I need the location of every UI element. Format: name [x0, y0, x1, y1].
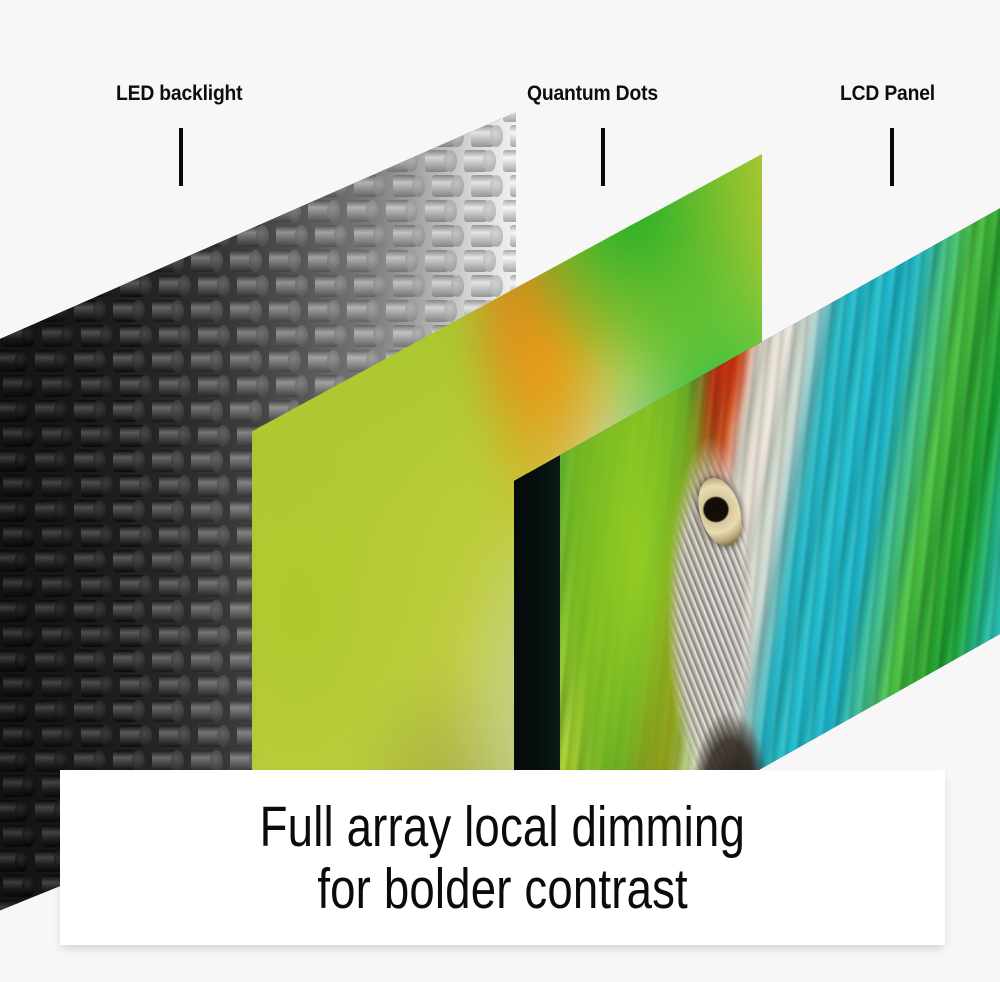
- callout-tick-quantum-dots: [601, 128, 605, 186]
- led-cylinder: [503, 150, 516, 172]
- led-cylinder: [3, 875, 33, 897]
- led-cylinder: [74, 600, 104, 622]
- led-cylinder: [3, 375, 33, 397]
- led-cylinder: [113, 650, 143, 672]
- led-cylinder: [0, 200, 26, 222]
- led-cylinder: [74, 112, 104, 122]
- led-row: [0, 148, 516, 174]
- led-cylinder: [113, 150, 143, 172]
- led-row: [0, 173, 516, 199]
- led-cylinder: [35, 750, 65, 772]
- led-cylinder: [308, 250, 338, 272]
- led-cylinder: [3, 525, 33, 547]
- led-cylinder: [191, 400, 221, 422]
- led-cylinder: [471, 125, 501, 147]
- led-cylinder: [347, 150, 377, 172]
- led-cylinder: [159, 275, 189, 297]
- led-cylinder: [237, 375, 267, 397]
- callout-tick-led-backlight: [179, 128, 183, 186]
- led-row: [0, 223, 516, 249]
- led-cylinder: [35, 550, 65, 572]
- led-cylinder: [42, 125, 72, 147]
- led-cylinder: [152, 750, 182, 772]
- led-cylinder: [152, 150, 182, 172]
- led-cylinder: [120, 125, 150, 147]
- led-cylinder: [152, 200, 182, 222]
- led-cylinder: [42, 425, 72, 447]
- led-cylinder: [386, 200, 416, 222]
- led-cylinder: [81, 675, 111, 697]
- led-cylinder: [510, 125, 516, 147]
- led-cylinder: [393, 175, 423, 197]
- led-cylinder: [230, 250, 260, 272]
- led-cylinder: [198, 125, 228, 147]
- led-cylinder: [81, 175, 111, 197]
- led-cylinder: [230, 200, 260, 222]
- led-cylinder: [191, 150, 221, 172]
- led-cylinder: [3, 725, 33, 747]
- led-cylinder: [81, 625, 111, 647]
- callout-tick-lcd-panel: [890, 128, 894, 186]
- led-cylinder: [74, 350, 104, 372]
- led-cylinder: [120, 225, 150, 247]
- led-cylinder: [464, 150, 494, 172]
- led-cylinder: [74, 150, 104, 172]
- led-cylinder: [471, 225, 501, 247]
- led-cylinder: [269, 300, 299, 322]
- led-cylinder: [152, 700, 182, 722]
- led-cylinder: [74, 650, 104, 672]
- led-cylinder: [35, 500, 65, 522]
- led-cylinder: [425, 150, 455, 172]
- led-cylinder: [464, 200, 494, 222]
- led-row: [0, 198, 516, 224]
- led-cylinder: [393, 125, 423, 147]
- led-cylinder: [42, 725, 72, 747]
- led-cylinder: [120, 525, 150, 547]
- led-cylinder: [386, 150, 416, 172]
- led-cylinder: [0, 750, 26, 772]
- led-cylinder: [237, 175, 267, 197]
- led-cylinder: [74, 700, 104, 722]
- led-cylinder: [432, 225, 462, 247]
- led-cylinder: [425, 250, 455, 272]
- led-cylinder: [152, 112, 182, 122]
- led-cylinder: [35, 112, 65, 122]
- led-cylinder: [113, 200, 143, 222]
- led-row: [0, 298, 516, 324]
- led-cylinder: [35, 300, 65, 322]
- led-cylinder: [35, 250, 65, 272]
- led-cylinder: [198, 475, 228, 497]
- led-cylinder: [198, 725, 228, 747]
- led-cylinder: [510, 225, 516, 247]
- led-cylinder: [471, 275, 501, 297]
- led-cylinder: [191, 700, 221, 722]
- led-cylinder: [74, 400, 104, 422]
- led-cylinder: [198, 175, 228, 197]
- led-cylinder: [230, 300, 260, 322]
- led-cylinder: [276, 375, 306, 397]
- led-cylinder: [0, 600, 26, 622]
- led-cylinder: [237, 225, 267, 247]
- led-cylinder: [42, 525, 72, 547]
- led-cylinder: [120, 325, 150, 347]
- led-cylinder: [315, 275, 345, 297]
- led-cylinder: [3, 675, 33, 697]
- led-cylinder: [471, 175, 501, 197]
- led-cylinder: [0, 550, 26, 572]
- led-cylinder: [74, 500, 104, 522]
- led-cylinder: [198, 525, 228, 547]
- led-cylinder: [3, 425, 33, 447]
- led-cylinder: [3, 475, 33, 497]
- led-cylinder: [3, 175, 33, 197]
- led-cylinder: [42, 175, 72, 197]
- led-cylinder: [120, 275, 150, 297]
- led-cylinder: [74, 550, 104, 572]
- led-cylinder: [198, 575, 228, 597]
- led-cylinder: [120, 575, 150, 597]
- led-cylinder: [0, 450, 26, 472]
- led-cylinder: [159, 575, 189, 597]
- led-cylinder: [425, 200, 455, 222]
- led-cylinder: [42, 625, 72, 647]
- led-cylinder: [230, 150, 260, 172]
- led-cylinder: [113, 700, 143, 722]
- callout-label-led-backlight: LED backlight: [116, 82, 242, 106]
- led-cylinder: [425, 112, 455, 122]
- led-cylinder: [159, 325, 189, 347]
- led-cylinder: [354, 125, 384, 147]
- led-cylinder: [269, 112, 299, 122]
- led-cylinder: [3, 125, 33, 147]
- led-cylinder: [0, 400, 26, 422]
- led-cylinder: [81, 725, 111, 747]
- led-cylinder: [510, 175, 516, 197]
- led-cylinder: [3, 225, 33, 247]
- led-cylinder: [0, 300, 26, 322]
- led-cylinder: [237, 325, 267, 347]
- led-cylinder: [42, 275, 72, 297]
- led-cylinder: [113, 250, 143, 272]
- led-cylinder: [237, 125, 267, 147]
- led-cylinder: [159, 525, 189, 547]
- led-cylinder: [42, 375, 72, 397]
- led-cylinder: [230, 400, 260, 422]
- led-cylinder: [276, 275, 306, 297]
- led-cylinder: [81, 575, 111, 597]
- led-cylinder: [81, 425, 111, 447]
- led-cylinder: [315, 175, 345, 197]
- led-cylinder: [425, 300, 455, 322]
- led-cylinder: [315, 325, 345, 347]
- led-cylinder: [159, 675, 189, 697]
- led-cylinder: [308, 200, 338, 222]
- led-cylinder: [35, 400, 65, 422]
- led-cylinder: [308, 300, 338, 322]
- led-cylinder: [230, 350, 260, 372]
- led-cylinder: [120, 375, 150, 397]
- led-cylinder: [152, 450, 182, 472]
- led-cylinder: [159, 175, 189, 197]
- led-cylinder: [198, 425, 228, 447]
- led-cylinder: [120, 475, 150, 497]
- led-cylinder: [198, 275, 228, 297]
- led-cylinder: [315, 125, 345, 147]
- callout-label-lcd-panel: LCD Panel: [840, 82, 935, 106]
- caption-line-1: Full array local dimming: [260, 796, 745, 858]
- led-cylinder: [0, 900, 26, 912]
- led-row: [0, 248, 516, 274]
- led-cylinder: [269, 350, 299, 372]
- led-cylinder: [354, 225, 384, 247]
- led-cylinder: [81, 525, 111, 547]
- led-cylinder: [347, 300, 377, 322]
- led-cylinder: [0, 112, 26, 122]
- led-cylinder: [0, 650, 26, 672]
- caption-line-2: for bolder contrast: [317, 858, 688, 920]
- led-cylinder: [81, 325, 111, 347]
- led-cylinder: [159, 125, 189, 147]
- led-cylinder: [3, 575, 33, 597]
- led-cylinder: [464, 250, 494, 272]
- led-cylinder: [191, 450, 221, 472]
- led-cylinder: [386, 250, 416, 272]
- led-cylinder: [159, 425, 189, 447]
- led-cylinder: [74, 300, 104, 322]
- led-cylinder: [503, 250, 516, 272]
- led-cylinder: [191, 250, 221, 272]
- led-cylinder: [81, 125, 111, 147]
- led-cylinder: [276, 125, 306, 147]
- led-cylinder: [191, 500, 221, 522]
- led-row: [0, 273, 516, 299]
- led-cylinder: [74, 750, 104, 772]
- led-cylinder: [191, 750, 221, 772]
- led-cylinder: [191, 650, 221, 672]
- led-cylinder: [120, 725, 150, 747]
- led-cylinder: [74, 250, 104, 272]
- led-cylinder: [432, 125, 462, 147]
- led-cylinder: [0, 150, 26, 172]
- led-cylinder: [354, 275, 384, 297]
- led-cylinder: [42, 575, 72, 597]
- led-cylinder: [159, 375, 189, 397]
- led-cylinder: [81, 275, 111, 297]
- led-cylinder: [191, 112, 221, 122]
- led-cylinder: [276, 325, 306, 347]
- led-cylinder: [198, 225, 228, 247]
- led-cylinder: [74, 200, 104, 222]
- led-cylinder: [35, 700, 65, 722]
- led-cylinder: [347, 200, 377, 222]
- led-cylinder: [393, 225, 423, 247]
- led-cylinder: [191, 200, 221, 222]
- led-cylinder: [120, 625, 150, 647]
- led-cylinder: [3, 775, 33, 797]
- led-cylinder: [113, 400, 143, 422]
- led-cylinder: [3, 825, 33, 847]
- led-cylinder: [393, 275, 423, 297]
- led-cylinder: [198, 625, 228, 647]
- led-cylinder: [276, 175, 306, 197]
- led-cylinder: [81, 475, 111, 497]
- led-cylinder: [432, 275, 462, 297]
- led-cylinder: [386, 300, 416, 322]
- led-cylinder: [152, 550, 182, 572]
- led-cylinder: [152, 350, 182, 372]
- led-cylinder: [308, 150, 338, 172]
- led-cylinder: [152, 650, 182, 672]
- led-cylinder: [3, 275, 33, 297]
- led-cylinder: [0, 500, 26, 522]
- led-cylinder: [42, 675, 72, 697]
- led-cylinder: [191, 600, 221, 622]
- led-cylinder: [159, 725, 189, 747]
- caption-box: Full array local dimming for bolder cont…: [60, 770, 945, 945]
- led-cylinder: [198, 375, 228, 397]
- led-cylinder: [198, 675, 228, 697]
- led-cylinder: [120, 425, 150, 447]
- led-cylinder: [0, 700, 26, 722]
- led-cylinder: [191, 350, 221, 372]
- product-illustration: LED backlight Quantum Dots LCD Panel Ful…: [0, 0, 1000, 982]
- led-cylinder: [0, 350, 26, 372]
- led-cylinder: [113, 550, 143, 572]
- led-row: [0, 112, 516, 124]
- led-cylinder: [432, 175, 462, 197]
- led-cylinder: [464, 112, 494, 122]
- led-cylinder: [42, 475, 72, 497]
- led-cylinder: [191, 300, 221, 322]
- led-cylinder: [81, 225, 111, 247]
- led-cylinder: [308, 350, 338, 372]
- led-cylinder: [42, 325, 72, 347]
- led-cylinder: [191, 550, 221, 572]
- led-cylinder: [347, 112, 377, 122]
- led-cylinder: [152, 250, 182, 272]
- led-cylinder: [198, 325, 228, 347]
- led-cylinder: [152, 600, 182, 622]
- led-cylinder: [237, 275, 267, 297]
- led-row: [0, 123, 516, 149]
- led-cylinder: [503, 112, 516, 122]
- led-cylinder: [269, 200, 299, 222]
- led-cylinder: [0, 850, 26, 872]
- led-cylinder: [0, 250, 26, 272]
- led-cylinder: [113, 500, 143, 522]
- led-cylinder: [113, 300, 143, 322]
- led-cylinder: [35, 200, 65, 222]
- led-cylinder: [159, 625, 189, 647]
- led-cylinder: [3, 325, 33, 347]
- led-cylinder: [113, 600, 143, 622]
- led-cylinder: [152, 500, 182, 522]
- led-cylinder: [230, 112, 260, 122]
- led-cylinder: [152, 400, 182, 422]
- led-cylinder: [74, 450, 104, 472]
- led-cylinder: [113, 750, 143, 772]
- led-cylinder: [35, 350, 65, 372]
- callout-label-quantum-dots: Quantum Dots: [527, 82, 658, 106]
- led-cylinder: [269, 250, 299, 272]
- led-cylinder: [159, 475, 189, 497]
- led-cylinder: [152, 300, 182, 322]
- led-cylinder: [120, 175, 150, 197]
- led-cylinder: [35, 150, 65, 172]
- led-cylinder: [308, 112, 338, 122]
- led-cylinder: [354, 325, 384, 347]
- led-cylinder: [42, 225, 72, 247]
- led-cylinder: [503, 200, 516, 222]
- led-cylinder: [35, 650, 65, 672]
- led-cylinder: [35, 600, 65, 622]
- led-cylinder: [386, 112, 416, 122]
- led-cylinder: [269, 150, 299, 172]
- led-cylinder: [113, 112, 143, 122]
- led-cylinder: [315, 225, 345, 247]
- led-cylinder: [276, 225, 306, 247]
- led-cylinder: [120, 675, 150, 697]
- led-cylinder: [113, 350, 143, 372]
- led-cylinder: [3, 625, 33, 647]
- led-cylinder: [0, 800, 26, 822]
- led-cylinder: [81, 375, 111, 397]
- led-cylinder: [159, 225, 189, 247]
- led-cylinder: [347, 250, 377, 272]
- led-cylinder: [35, 450, 65, 472]
- led-cylinder: [354, 175, 384, 197]
- led-cylinder: [113, 450, 143, 472]
